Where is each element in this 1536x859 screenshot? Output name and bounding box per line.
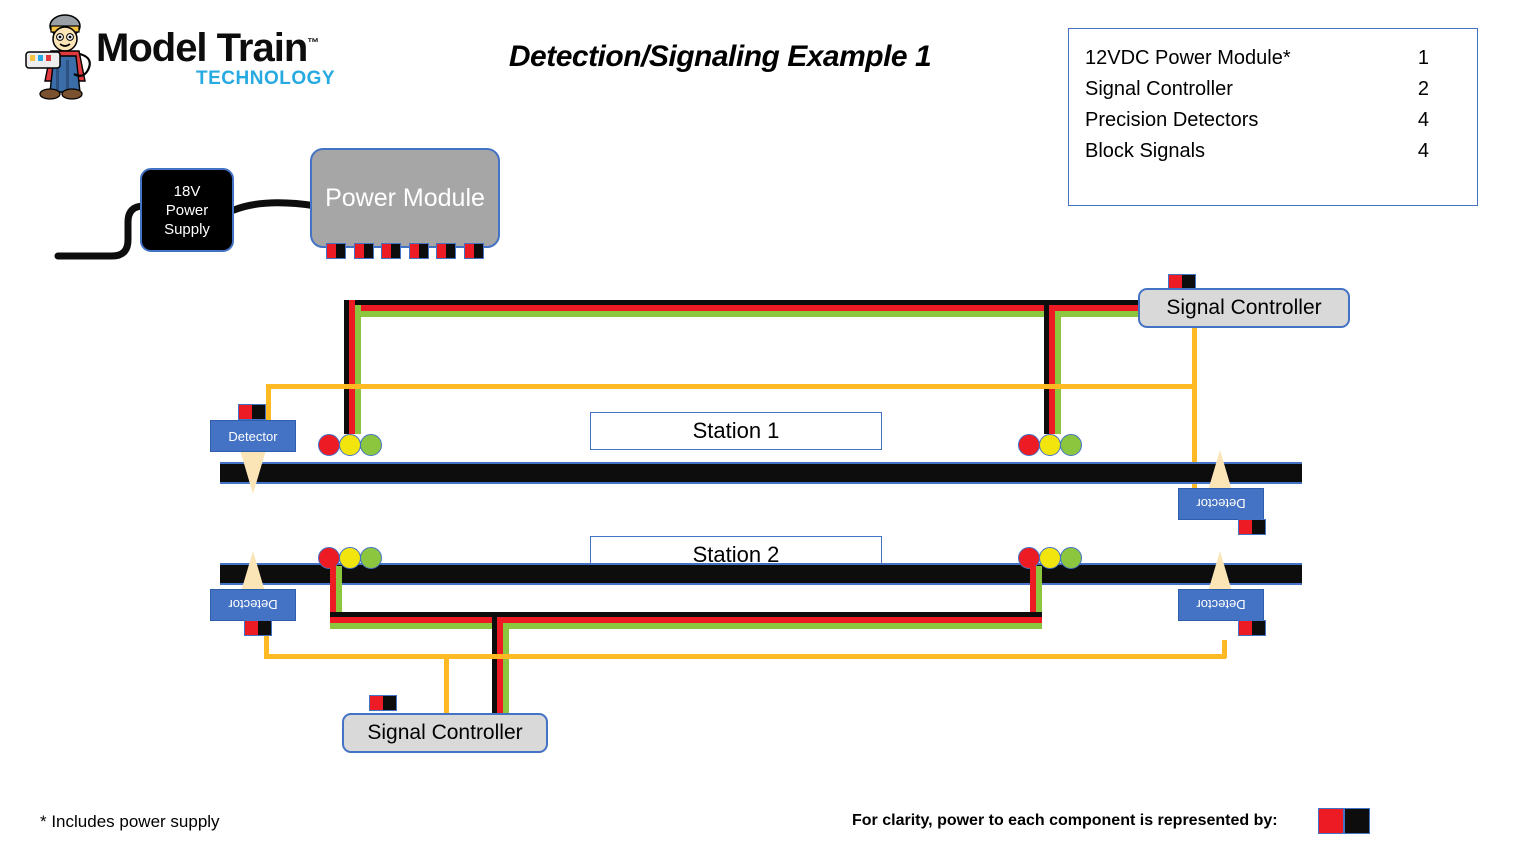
- swatch-black: [1344, 808, 1370, 834]
- power-port: [354, 243, 374, 259]
- controller-power-port: [369, 695, 397, 711]
- wire-green-lower-bus: [330, 623, 1042, 629]
- legend-row: Signal Controller 2: [1085, 74, 1459, 105]
- swatch-red: [1318, 808, 1344, 834]
- detector-label: Detector: [1196, 497, 1245, 512]
- port-red: [382, 244, 391, 258]
- power-supply-block: 18V Power Supply: [140, 168, 234, 252]
- signal-controller-upper: Signal Controller: [1138, 288, 1350, 328]
- detector-upper-left: Detector: [210, 420, 296, 452]
- block-signal-upper-right: [1018, 434, 1082, 456]
- port-black: [258, 621, 271, 635]
- detector-power-port: [238, 404, 266, 420]
- lamp-yellow: [1039, 547, 1061, 569]
- port-red: [437, 244, 446, 258]
- port-red: [1239, 621, 1252, 635]
- port-black: [1182, 275, 1195, 289]
- legend-qty: 4: [1418, 136, 1459, 167]
- signal-controller-lower: Signal Controller: [342, 713, 548, 753]
- detector-label: Detector: [228, 598, 277, 613]
- psu-line2: Power: [166, 201, 209, 220]
- wire-orange-lower-bus: [264, 654, 1226, 659]
- port-black: [383, 696, 396, 710]
- power-module-label: Power Module: [325, 182, 485, 214]
- detector-upper-right: Detector: [1178, 488, 1264, 520]
- brand-wordmark-text: Model Train: [96, 26, 307, 70]
- detector-lower-right: Detector: [1178, 589, 1264, 621]
- detector-label: Detector: [1196, 598, 1245, 613]
- legend-row: 12VDC Power Module* 1: [1085, 43, 1459, 74]
- trademark-symbol: ™: [307, 36, 318, 50]
- page-title: Detection/Signaling Example 1: [360, 40, 1080, 74]
- brand-subtitle: TECHNOLOGY: [196, 68, 335, 90]
- port-red: [1239, 520, 1252, 534]
- power-port: [326, 243, 346, 259]
- legend-row: Block Signals 4: [1085, 136, 1459, 167]
- wire-orange-lowctrl-drop: [444, 654, 449, 716]
- legend-label: Precision Detectors: [1085, 105, 1258, 136]
- wire-green-upper-bus: [344, 311, 1150, 317]
- power-module-port-row: [326, 243, 484, 259]
- signal-controller-label: Signal Controller: [1166, 296, 1321, 320]
- block-signal-lower-right: [1018, 547, 1082, 569]
- lamp-green: [360, 547, 382, 569]
- brand-wordmark: Model Train™: [96, 28, 318, 68]
- power-port: [436, 243, 456, 259]
- legend-qty: 4: [1418, 105, 1459, 136]
- lamp-green: [360, 434, 382, 456]
- port-black: [252, 405, 265, 419]
- psu-to-module-cable: [232, 196, 318, 216]
- port-red: [410, 244, 419, 258]
- legend-qty: 2: [1418, 74, 1459, 105]
- wire-orange-lowright-riser: [1222, 640, 1227, 658]
- lamp-green: [1060, 434, 1082, 456]
- legend-label: 12VDC Power Module*: [1085, 43, 1291, 74]
- port-red: [465, 244, 474, 258]
- lamp-red: [1018, 434, 1040, 456]
- block-signal-upper-left: [318, 434, 382, 456]
- signal-controller-label: Signal Controller: [367, 721, 522, 745]
- block-signal-lower-left: [318, 547, 382, 569]
- legend-label: Block Signals: [1085, 136, 1205, 167]
- bill-of-materials-legend: 12VDC Power Module* 1 Signal Controller …: [1068, 28, 1478, 206]
- lamp-green: [1060, 547, 1082, 569]
- detector-power-port: [244, 620, 272, 636]
- legend-label: Signal Controller: [1085, 74, 1233, 105]
- detector-power-port: [1238, 620, 1266, 636]
- port-black: [1252, 621, 1265, 635]
- port-black: [364, 244, 373, 258]
- station-label-text: Station 1: [693, 418, 780, 444]
- psu-voltage: 18V: [174, 182, 201, 201]
- port-red: [355, 244, 364, 258]
- wire-green-upright-drop: [1055, 311, 1061, 434]
- detector-lower-left: Detector: [210, 589, 296, 621]
- power-port: [409, 243, 429, 259]
- port-black: [336, 244, 345, 258]
- port-black: [419, 244, 428, 258]
- lamp-yellow: [339, 434, 361, 456]
- wire-green-upleft-drop: [355, 305, 361, 434]
- power-port: [464, 243, 484, 259]
- legend-qty: 1: [1418, 43, 1459, 74]
- track-lower: [220, 563, 1302, 585]
- legend-row: Precision Detectors 4: [1085, 105, 1459, 136]
- wire-orange-upper-bus: [266, 384, 1196, 389]
- power-module-block: Power Module: [310, 148, 500, 248]
- port-black: [1252, 520, 1265, 534]
- power-representation-swatch: [1318, 808, 1370, 834]
- track-upper: [220, 462, 1302, 484]
- footnote: * Includes power supply: [40, 812, 220, 832]
- psu-line3: Supply: [164, 220, 210, 239]
- detector-beam-wedge: [240, 450, 266, 494]
- port-red: [327, 244, 336, 258]
- port-black: [446, 244, 455, 258]
- detector-label: Detector: [228, 429, 277, 444]
- port-red: [239, 405, 252, 419]
- power-port: [381, 243, 401, 259]
- lamp-yellow: [339, 547, 361, 569]
- lamp-red: [318, 434, 340, 456]
- wire-green-lowctrl-drop: [503, 623, 509, 717]
- detector-power-port: [1238, 519, 1266, 535]
- port-red: [245, 621, 258, 635]
- port-red: [1169, 275, 1182, 289]
- port-black: [391, 244, 400, 258]
- lamp-yellow: [1039, 434, 1061, 456]
- port-red: [370, 696, 383, 710]
- clarity-note: For clarity, power to each component is …: [852, 812, 1278, 830]
- station-1-label: Station 1: [590, 412, 882, 450]
- port-black: [474, 244, 483, 258]
